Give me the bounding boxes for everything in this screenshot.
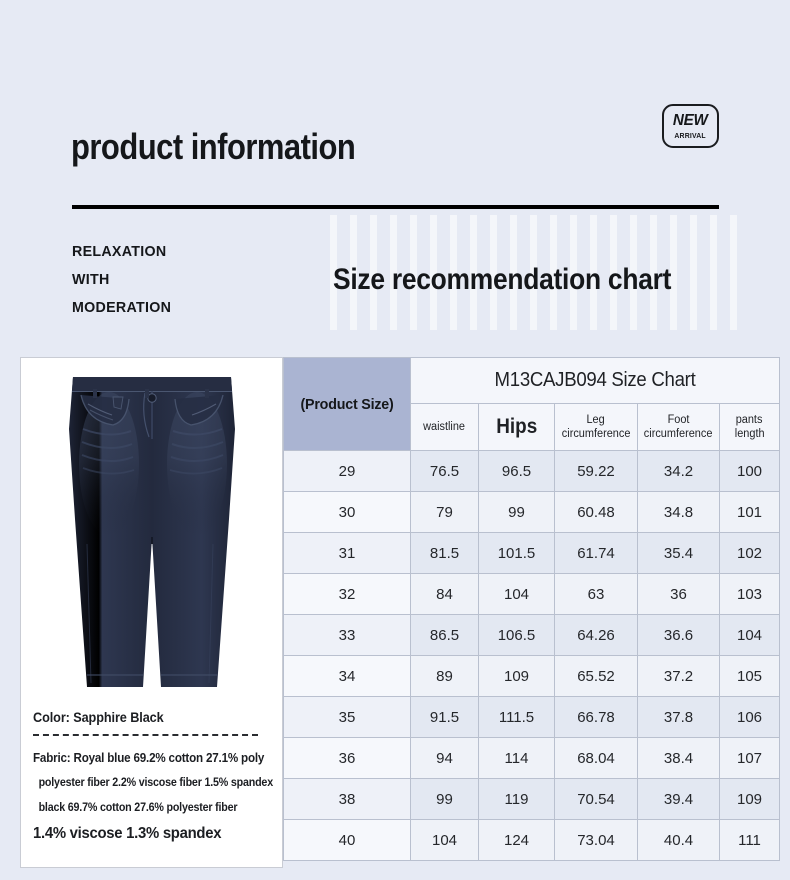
table-header-row-title: (Product Size) M13CAJB094 Size Chart bbox=[284, 358, 780, 404]
column-header-leg-circumference: Leg circumference bbox=[555, 404, 638, 451]
product-size-header-cell: (Product Size) bbox=[284, 358, 411, 451]
cell-leg-circumference: 64.26 bbox=[555, 615, 638, 656]
jeans-illustration bbox=[57, 369, 247, 699]
column-header-foot-line1: Foot bbox=[668, 413, 690, 427]
column-header-foot-line2: circumference bbox=[644, 427, 713, 441]
table-row: 4010412473.0440.4111 bbox=[284, 820, 780, 861]
cell-product-size: 30 bbox=[284, 492, 411, 533]
cell-leg-circumference: 66.78 bbox=[555, 697, 638, 738]
cell-pants-length: 106 bbox=[720, 697, 780, 738]
cell-waistline: 84 bbox=[411, 574, 479, 615]
cell-leg-circumference: 61.74 bbox=[555, 533, 638, 574]
table-row: 348910965.5237.2105 bbox=[284, 656, 780, 697]
cell-hips: 124 bbox=[479, 820, 555, 861]
cell-waistline: 79 bbox=[411, 492, 479, 533]
table-row: 3181.5101.561.7435.4102 bbox=[284, 533, 780, 574]
cell-pants-length: 102 bbox=[720, 533, 780, 574]
tagline-block: RELAXATION WITH MODERATION bbox=[72, 238, 302, 322]
product-color-label: Color: Sapphire Black bbox=[33, 710, 256, 725]
cell-foot-circumference: 37.2 bbox=[638, 656, 720, 697]
column-header-leg-line2: circumference bbox=[562, 427, 631, 441]
table-row: 3386.5106.564.2636.6104 bbox=[284, 615, 780, 656]
cell-hips: 106.5 bbox=[479, 615, 555, 656]
cell-leg-circumference: 60.48 bbox=[555, 492, 638, 533]
cell-product-size: 36 bbox=[284, 738, 411, 779]
chart-title-label: M13CAJB094 Size Chart bbox=[495, 369, 696, 392]
cell-pants-length: 107 bbox=[720, 738, 780, 779]
cell-hips: 101.5 bbox=[479, 533, 555, 574]
cell-product-size: 32 bbox=[284, 574, 411, 615]
jeans-product-photo bbox=[21, 358, 282, 710]
product-size-header-label: (Product Size) bbox=[300, 396, 393, 413]
product-card: Color: Sapphire Black Fabric: Royal blue… bbox=[20, 357, 283, 868]
column-header-hips-line1: Hips bbox=[496, 420, 537, 434]
column-header-pants-length: pants length bbox=[720, 404, 780, 451]
cell-waistline: 94 bbox=[411, 738, 479, 779]
column-header-leg-line1: Leg bbox=[587, 413, 605, 427]
column-header-waistline-line1: waistline bbox=[424, 420, 466, 434]
cell-pants-length: 104 bbox=[720, 615, 780, 656]
badge-arrival-label: ARRIVAL bbox=[675, 132, 706, 140]
fabric-line-3: black 69.7% cotton 27.6% polyester fiber bbox=[33, 796, 253, 821]
cell-hips: 99 bbox=[479, 492, 555, 533]
title-divider-rule bbox=[72, 205, 719, 209]
cell-waistline: 91.5 bbox=[411, 697, 479, 738]
cell-foot-circumference: 36.6 bbox=[638, 615, 720, 656]
column-header-pants-line2: length bbox=[735, 427, 765, 441]
cell-hips: 114 bbox=[479, 738, 555, 779]
table-row: 32841046336103 bbox=[284, 574, 780, 615]
cell-waistline: 104 bbox=[411, 820, 479, 861]
cell-product-size: 31 bbox=[284, 533, 411, 574]
size-chart-table: (Product Size) M13CAJB094 Size Chart wai… bbox=[283, 357, 780, 861]
cell-leg-circumference: 73.04 bbox=[555, 820, 638, 861]
column-header-waistline: waistline bbox=[411, 404, 479, 451]
cell-pants-length: 103 bbox=[720, 574, 780, 615]
cell-foot-circumference: 39.4 bbox=[638, 779, 720, 820]
table-row: 389911970.5439.4109 bbox=[284, 779, 780, 820]
cell-leg-circumference: 70.54 bbox=[555, 779, 638, 820]
table-row: 2976.596.559.2234.2100 bbox=[284, 451, 780, 492]
cell-product-size: 40 bbox=[284, 820, 411, 861]
table-row: 30799960.4834.8101 bbox=[284, 492, 780, 533]
badge-new-label: NEW bbox=[673, 113, 708, 129]
cell-hips: 109 bbox=[479, 656, 555, 697]
cell-foot-circumference: 34.8 bbox=[638, 492, 720, 533]
table-row: 3591.5111.566.7837.8106 bbox=[284, 697, 780, 738]
cell-foot-circumference: 34.2 bbox=[638, 451, 720, 492]
cell-foot-circumference: 35.4 bbox=[638, 533, 720, 574]
cell-leg-circumference: 63 bbox=[555, 574, 638, 615]
cell-hips: 111.5 bbox=[479, 697, 555, 738]
cell-product-size: 29 bbox=[284, 451, 411, 492]
cell-hips: 119 bbox=[479, 779, 555, 820]
product-info-block: Color: Sapphire Black Fabric: Royal blue… bbox=[21, 710, 282, 846]
cell-pants-length: 105 bbox=[720, 656, 780, 697]
cell-leg-circumference: 59.22 bbox=[555, 451, 638, 492]
cell-waistline: 76.5 bbox=[411, 451, 479, 492]
cell-waistline: 81.5 bbox=[411, 533, 479, 574]
cell-pants-length: 100 bbox=[720, 451, 780, 492]
column-header-hips: Hips bbox=[479, 404, 555, 451]
cell-pants-length: 109 bbox=[720, 779, 780, 820]
size-chart-heading: Size recommendation chart bbox=[333, 263, 671, 297]
cell-product-size: 33 bbox=[284, 615, 411, 656]
table-row: 369411468.0438.4107 bbox=[284, 738, 780, 779]
cell-hips: 104 bbox=[479, 574, 555, 615]
tagline-line-3: MODERATION bbox=[72, 294, 291, 322]
fabric-line-4: 1.4% viscose 1.3% spandex bbox=[33, 821, 253, 846]
cell-waistline: 89 bbox=[411, 656, 479, 697]
fabric-line-1: Fabric: Royal blue 69.2% cotton 27.1% po… bbox=[33, 746, 253, 771]
cell-leg-circumference: 65.52 bbox=[555, 656, 638, 697]
cell-waistline: 99 bbox=[411, 779, 479, 820]
cell-foot-circumference: 36 bbox=[638, 574, 720, 615]
cell-foot-circumference: 37.8 bbox=[638, 697, 720, 738]
cell-product-size: 35 bbox=[284, 697, 411, 738]
cell-pants-length: 101 bbox=[720, 492, 780, 533]
tagline-line-1: RELAXATION bbox=[72, 238, 291, 266]
cell-foot-circumference: 40.4 bbox=[638, 820, 720, 861]
tagline-line-2: WITH bbox=[72, 266, 291, 294]
cell-pants-length: 111 bbox=[720, 820, 780, 861]
cell-hips: 96.5 bbox=[479, 451, 555, 492]
column-header-pants-line1: pants bbox=[736, 413, 763, 427]
new-arrival-badge: NEW ARRIVAL bbox=[662, 104, 719, 148]
cell-leg-circumference: 68.04 bbox=[555, 738, 638, 779]
cell-waistline: 86.5 bbox=[411, 615, 479, 656]
cell-product-size: 38 bbox=[284, 779, 411, 820]
page-title: product information bbox=[71, 126, 355, 168]
cell-product-size: 34 bbox=[284, 656, 411, 697]
chart-title-cell: M13CAJB094 Size Chart bbox=[411, 358, 780, 404]
size-table-body: 2976.596.559.2234.210030799960.4834.8101… bbox=[284, 451, 780, 861]
cell-foot-circumference: 38.4 bbox=[638, 738, 720, 779]
column-header-foot-circumference: Foot circumference bbox=[638, 404, 720, 451]
fabric-line-2: polyester fiber 2.2% viscose fiber 1.5% … bbox=[33, 771, 253, 796]
info-dashed-divider bbox=[33, 734, 258, 736]
